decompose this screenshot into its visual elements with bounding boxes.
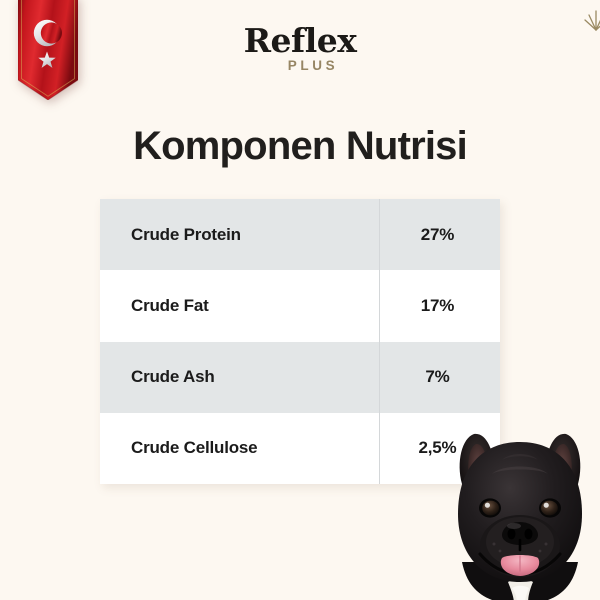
column-divider: [379, 199, 380, 270]
nutrient-name: Crude Protein: [100, 225, 379, 245]
table-row: Crude Ash 7%: [100, 342, 500, 413]
nutrient-name: Crude Fat: [100, 296, 379, 316]
brand-name: Reflex: [244, 24, 357, 57]
nutrient-value: 7%: [379, 367, 500, 387]
table-row: Crude Fat 17%: [100, 270, 500, 341]
nutrient-name: Crude Cellulose: [100, 438, 379, 458]
page-title: Komponen Nutrisi: [0, 124, 600, 168]
nutrient-name: Crude Ash: [100, 367, 379, 387]
french-bulldog-photo: [432, 422, 600, 600]
nutrient-value: 17%: [379, 296, 500, 316]
nutrient-value: 27%: [379, 225, 500, 245]
table-row: Crude Protein 27%: [100, 199, 500, 270]
column-divider: [379, 413, 380, 484]
column-divider: [379, 270, 380, 341]
brand-subtitle: PLUS: [0, 58, 600, 73]
starburst-icon: [583, 9, 600, 31]
brand-logo: Reflex PLUS: [0, 24, 600, 73]
poster-canvas: Reflex PLUS Komponen Nutrisi Crude Prote…: [0, 0, 600, 600]
column-divider: [379, 342, 380, 413]
